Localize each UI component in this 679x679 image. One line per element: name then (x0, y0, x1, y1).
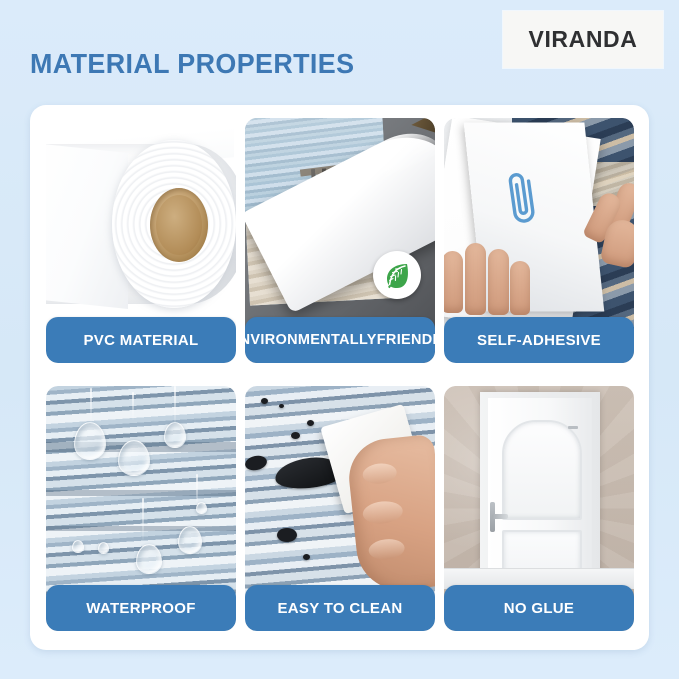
feature-card-environmentally-friendly[interactable]: ENVIRONMENTALLY FRIENDLY (245, 118, 435, 363)
brand-logo-box: VIRANDA (503, 11, 663, 68)
feature-card-easy-to-clean[interactable]: EASY TO CLEAN (245, 386, 435, 631)
page-title: MATERIAL PROPERTIES (30, 48, 354, 80)
feature-card-pvc-material[interactable]: PVC MATERIAL (46, 118, 236, 363)
page-background: VIRANDA MATERIAL PROPERTIES PVC MATERIAL (0, 0, 679, 679)
paperclip-icon (496, 165, 550, 233)
card-label-waterproof: WATERPROOF (46, 585, 236, 631)
card-label-line1: ENVIRONMENTALLY (245, 332, 377, 349)
right-hand (568, 182, 634, 264)
feature-card-panel: PVC MATERIAL (30, 105, 649, 650)
hand (345, 434, 435, 594)
feature-card-self-adhesive[interactable]: SELF-ADHESIVE (444, 118, 634, 363)
feature-card-no-glue[interactable]: NO GLUE (444, 386, 634, 631)
card-label-line2: FRIENDLY (377, 332, 435, 349)
leaf-icon (373, 251, 421, 299)
card-label-self-adhesive: SELF-ADHESIVE (444, 317, 634, 363)
card-label-pvc-material: PVC MATERIAL (46, 317, 236, 363)
card-label-no-glue: NO GLUE (444, 585, 634, 631)
feature-card-waterproof[interactable]: WATERPROOF (46, 386, 236, 631)
card-label-easy-to-clean: EASY TO CLEAN (245, 585, 435, 631)
left-hand (444, 241, 532, 325)
feature-grid: PVC MATERIAL (46, 118, 634, 636)
card-label-environmentally-friendly: ENVIRONMENTALLY FRIENDLY (245, 317, 435, 363)
brand-name: VIRANDA (529, 26, 638, 53)
